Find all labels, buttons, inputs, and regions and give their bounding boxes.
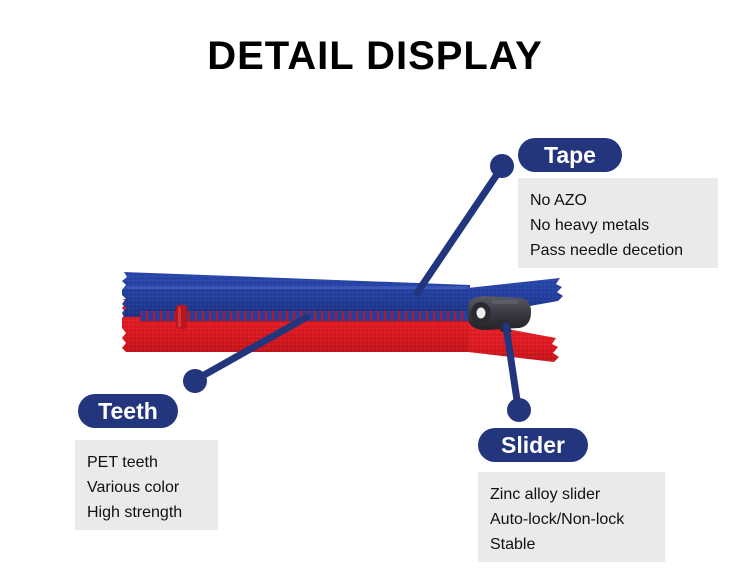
callout-specbox-teeth: PET teeth Various color High strength xyxy=(75,440,218,530)
spec-line: Stable xyxy=(490,532,653,557)
callout-badge-slider[interactable]: Slider xyxy=(478,428,588,462)
spec-line: High strength xyxy=(87,500,206,525)
spec-line: Zinc alloy slider xyxy=(490,482,653,507)
spec-line: No heavy metals xyxy=(530,213,706,238)
zipper-slider xyxy=(468,296,531,332)
spec-line: Auto-lock/Non-lock xyxy=(490,507,653,532)
spec-line: No AZO xyxy=(530,188,706,213)
callout-specbox-slider: Zinc alloy slider Auto-lock/Non-lock Sta… xyxy=(478,472,665,562)
zipper-bottom-stop xyxy=(176,305,187,329)
zipper-teeth xyxy=(140,309,470,322)
callout-badge-teeth[interactable]: Teeth xyxy=(78,394,178,428)
spec-line: Pass needle decetion xyxy=(530,238,706,263)
detail-display-page: DETAIL DISPLAY xyxy=(0,0,750,588)
callout-specbox-tape: No AZO No heavy metals Pass needle decet… xyxy=(518,178,718,268)
spec-line: PET teeth xyxy=(87,450,206,475)
callout-badge-tape[interactable]: Tape xyxy=(518,138,622,172)
spec-line: Various color xyxy=(87,475,206,500)
